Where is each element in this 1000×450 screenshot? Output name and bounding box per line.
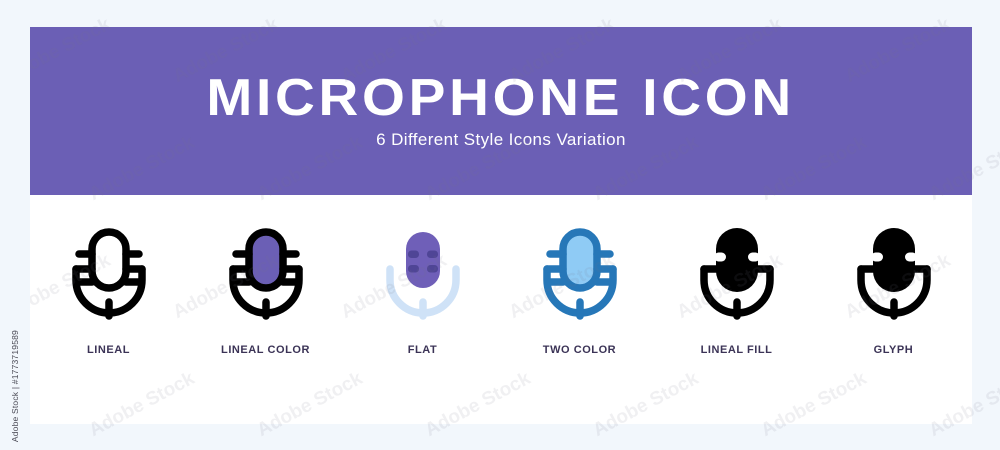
icon-label-lineal-fill: LINEAL FILL	[701, 344, 773, 356]
icon-cell-lineal-color[interactable]: LINEAL COLOR	[191, 223, 341, 356]
header-banner: MICROPHONE ICON 6 Different Style Icons …	[30, 27, 972, 195]
icon-cell-flat[interactable]: FLAT	[348, 223, 498, 356]
icon-cell-lineal[interactable]: LINEAL	[34, 223, 184, 356]
icon-label-glyph: GLYPH	[874, 344, 914, 356]
microphone-icon-flat[interactable]	[375, 223, 471, 327]
page-title: MICROPHONE ICON	[207, 72, 795, 124]
icon-label-two-color: TWO COLOR	[543, 344, 616, 356]
icon-label-flat: FLAT	[408, 344, 438, 356]
icon-cell-lineal-fill[interactable]: LINEAL FILL	[662, 223, 812, 356]
icon-label-lineal-color: LINEAL COLOR	[221, 344, 310, 356]
icon-cell-two-color[interactable]: TWO COLOR	[505, 223, 655, 356]
icon-label-lineal: LINEAL	[87, 344, 130, 356]
microphone-icon-lineal-color[interactable]	[218, 223, 314, 327]
icon-cell-glyph[interactable]: GLYPH	[819, 223, 969, 356]
microphone-icon-two-color[interactable]	[532, 223, 628, 327]
microphone-icon-lineal-fill[interactable]	[689, 223, 785, 327]
microphone-icon-lineal[interactable]	[61, 223, 157, 327]
microphone-icon-glyph[interactable]	[846, 223, 942, 327]
icon-set-card: MICROPHONE ICON 6 Different Style Icons …	[30, 27, 972, 424]
watermark-rail: Adobe Stock | #1773719589	[0, 0, 30, 450]
watermark-credit: Adobe Stock | #1773719589	[10, 330, 20, 442]
page-subtitle: 6 Different Style Icons Variation	[376, 130, 626, 150]
icon-variation-row: LINEAL LINEAL COLOR	[30, 195, 972, 424]
